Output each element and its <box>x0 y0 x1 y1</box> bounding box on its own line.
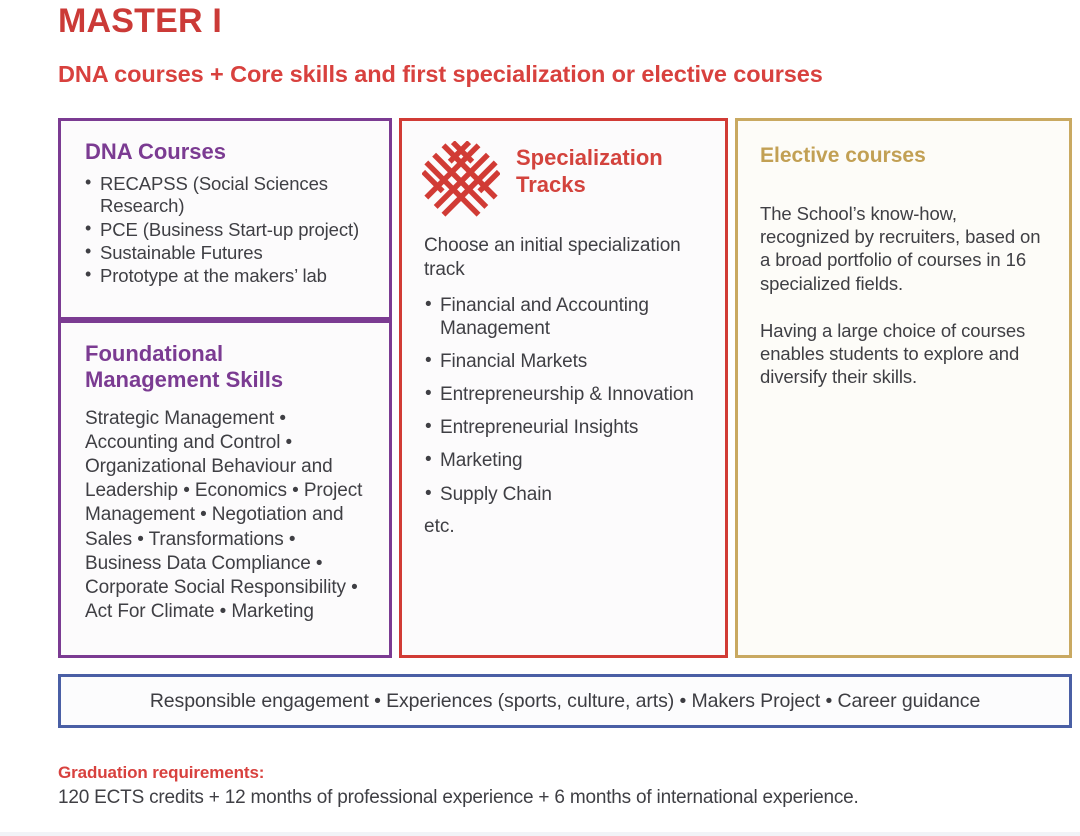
specialization-content: Choose an initial specialization track F… <box>402 224 725 538</box>
list-item: Entrepreneurial Insights <box>424 416 711 439</box>
page-subtitle: DNA courses + Core skills and first spec… <box>58 60 823 88</box>
elective-paragraph-2: Having a large choice of courses enables… <box>760 319 1049 388</box>
transversal-activities-banner: Responsible engagement • Experiences (sp… <box>58 674 1072 728</box>
list-item: RECAPSS (Social Sciences Research) <box>85 173 373 218</box>
dna-courses-panel: DNA Courses RECAPSS (Social Sciences Res… <box>58 118 392 320</box>
bottom-divider <box>0 832 1080 836</box>
foundational-heading-line-2: Management Skills <box>85 367 373 393</box>
specialization-tracks-panel: Specialization Tracks Choose an initial … <box>399 118 728 658</box>
specialization-track-list: Financial and Accounting Management Fina… <box>424 294 711 506</box>
dna-courses-heading: DNA Courses <box>85 139 373 165</box>
list-item: PCE (Business Start-up project) <box>85 219 373 241</box>
page-title: MASTER I <box>58 2 222 41</box>
specialization-heading-line-1: Specialization <box>516 145 663 172</box>
foundational-content: Foundational Management Skills Strategic… <box>61 323 389 624</box>
dna-courses-content: DNA Courses RECAPSS (Social Sciences Res… <box>61 121 389 288</box>
elective-courses-heading: Elective courses <box>760 143 1049 168</box>
specialization-lead-text: Choose an initial specialization track <box>424 234 711 282</box>
specialization-header: Specialization Tracks <box>402 121 725 224</box>
woven-lattice-icon <box>422 141 500 224</box>
specialization-heading-line-2: Tracks <box>516 172 663 199</box>
specialization-title-wrap: Specialization Tracks <box>516 137 663 199</box>
elective-paragraph-1: The School’s know-how, recognized by rec… <box>760 202 1049 295</box>
specialization-etc: etc. <box>424 516 711 538</box>
graduation-requirements-text: 120 ECTS credits + 12 months of professi… <box>58 787 859 809</box>
list-item: Prototype at the makers’ lab <box>85 265 373 287</box>
banner-text: Responsible engagement • Experiences (sp… <box>150 690 980 713</box>
master-1-program-sheet: MASTER I DNA courses + Core skills and f… <box>0 0 1080 836</box>
list-item: Supply Chain <box>424 483 711 506</box>
list-item: Financial and Accounting Management <box>424 294 711 340</box>
list-item: Sustainable Futures <box>85 242 373 264</box>
list-item: Marketing <box>424 449 711 472</box>
foundational-course-list: Strategic Management • Accounting and Co… <box>85 407 373 624</box>
list-item: Financial Markets <box>424 350 711 373</box>
foundational-management-skills-panel: Foundational Management Skills Strategic… <box>58 320 392 658</box>
dna-courses-list: RECAPSS (Social Sciences Research) PCE (… <box>85 173 373 288</box>
foundational-heading: Foundational Management Skills <box>85 341 373 393</box>
elective-courses-panel: Elective courses The School’s know-how, … <box>735 118 1072 658</box>
graduation-requirements-label: Graduation requirements: <box>58 763 264 783</box>
foundational-heading-line-1: Foundational <box>85 341 373 367</box>
elective-courses-content: Elective courses The School’s know-how, … <box>738 121 1069 388</box>
list-item: Entrepreneurship & Innovation <box>424 383 711 406</box>
